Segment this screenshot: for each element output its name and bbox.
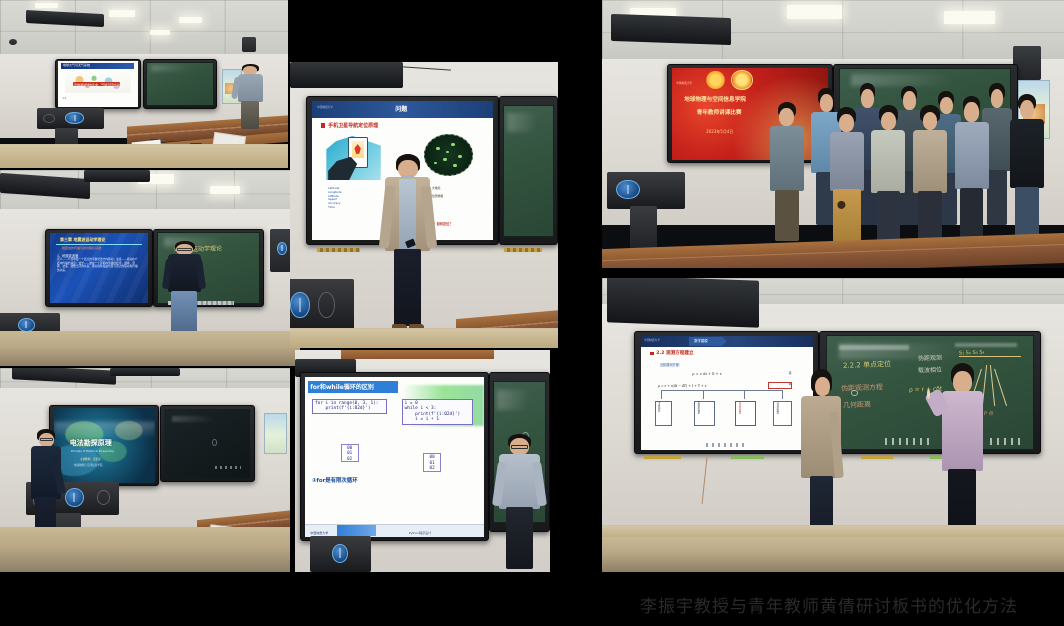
slide-title: 电法勘探原理: [70, 438, 112, 448]
podium: [37, 108, 103, 130]
slide-python-loops: for和while循环的区别 for i in range(0, 3, 1): …: [305, 377, 484, 537]
person-presenter: [230, 64, 270, 131]
secondary-screen-frame: [160, 405, 256, 483]
university-emblem-icon: [616, 180, 640, 200]
slide-header: 问题: [395, 104, 407, 113]
pen-tray-icon: [317, 248, 360, 252]
slide-body: 定义——介质中每一个质点的平衡位置方向移动；速度——振动在介质中传播的速度；波长…: [57, 258, 140, 273]
slide-title: for和while循环的区别: [310, 382, 374, 391]
panel-bottom-center[interactable]: for和while循环的区别 for i in range(0, 3, 1): …: [295, 350, 550, 572]
wall-speaker: [242, 37, 256, 52]
podium: [290, 279, 354, 330]
slide-title-en: Principle of Electrical Prospecting: [71, 450, 114, 453]
panel-bottom-left[interactable]: 电法勘探原理 Principle of Electrical Prospecti…: [0, 368, 290, 572]
podium: [310, 536, 371, 572]
slide-atmosphere: 地球大气与天气系统 影响着地球的生命、气候与环境演化 1.1: [58, 61, 137, 107]
university-emblem-icon: [290, 292, 310, 319]
board-toolbar-icons-right[interactable]: [990, 438, 1023, 445]
person-presenter: [494, 434, 545, 572]
slide-title: 第三章 地震波运动学理论: [60, 237, 105, 243]
slide-label-1: 真: [789, 371, 792, 375]
slide-title: 地球大气与天气系统: [63, 63, 90, 67]
slide-bullet: 手机卫星导航定位原理: [328, 122, 378, 129]
person-presenter: [381, 154, 435, 337]
slide-tab: 数学建模: [694, 338, 708, 343]
person-group-member: [953, 96, 990, 243]
slide-subtitle: 地震波的传播与射线理论基础: [62, 246, 101, 250]
display-screen-frame: for和while循环的区别 for i in range(0, 3, 1): …: [300, 372, 489, 541]
slide-presenter: 主讲教师：张某某: [80, 457, 101, 461]
display-screen-frame: 第三章 地震波运动学理论 地震波的传播与射线理论基础 1、地震波波速 定义——介…: [45, 229, 153, 307]
banner-line2: 青年教师讲课比赛: [697, 108, 742, 116]
person-group-member: [828, 107, 865, 246]
slide-conclusion: ①for是有限次循环: [312, 476, 358, 484]
university-emblem-icon: [65, 488, 84, 507]
glasses-icon: [511, 445, 528, 449]
greenboard-frame: [499, 96, 558, 245]
output-block-while: 00 01 02: [423, 453, 441, 471]
panel-mid-left[interactable]: 第三章 地震波运动学理论 地震波的传播与射线理论基础 1、地震波波速 定义——介…: [0, 170, 300, 366]
person-group-member: [912, 105, 949, 247]
flow-node-label: 卫星钟差: [656, 402, 660, 412]
wall-poster: [264, 413, 287, 454]
board-toolbar-icons[interactable]: [885, 438, 930, 445]
panel-top-right[interactable]: 地球物理与空间信息学院 青年教师讲课比赛 2023年5月4日 中国地质大学: [602, 0, 1064, 268]
glasses-icon: [177, 248, 191, 251]
panel-top-left[interactable]: 地球大气与天气系统 影响着地球的生命、气候与环境演化 1.1: [0, 0, 288, 168]
flow-node-label: 电离层延迟: [737, 402, 741, 414]
panel-bottom-right[interactable]: 数学建模 中国地质大学 2.2 观测方程建立 当前观测方程： ρ = c·Δt …: [602, 278, 1064, 572]
code-block-while: i = 0 while i < 3: print(f'{i:02d}') i =…: [402, 399, 474, 425]
photo-collage-stage: 地球大气与天气系统 影响着地球的生命、气候与环境演化 1.1: [0, 0, 1064, 626]
slide-seismic: 第三章 地震波运动学理论 地震波的传播与射线理论基础 1、地震波波速 定义——介…: [50, 233, 148, 303]
slide-field-list: Latitude Longitude Altitude Speed Accura…: [328, 187, 341, 209]
pen-tray-icon: [644, 456, 681, 460]
panel-mid-center[interactable]: 问题 中国地质大学 手机卫星导航定位原理: [290, 62, 558, 348]
glasses-icon: [40, 438, 53, 441]
slide-footer-right: Python程序设计: [409, 531, 431, 535]
slide-title: 2.2 观测方程建立: [656, 350, 693, 356]
banner-line1: 地球物理与空间信息学院: [684, 95, 746, 103]
person-group-member: [1009, 94, 1046, 244]
slide-affiliation: 地球物理与空间信息学院: [74, 463, 103, 467]
university-emblem-icon: [65, 112, 84, 123]
university-emblem-icon: [18, 318, 35, 332]
podium: [607, 172, 686, 210]
display-screen-frame: 地球物理与空间信息学院 青年教师讲课比赛 2023年5月4日 中国地质大学: [667, 64, 833, 163]
person-group-member: [870, 105, 907, 247]
university-emblem-icon: [332, 544, 348, 563]
slide-subtitle: 当前观测方程：: [660, 362, 682, 367]
collage-caption: 李振宇教授与青年教师黄倩研讨板书的优化方法: [640, 592, 1018, 617]
flow-node-label: 接收机钟差: [696, 402, 700, 414]
slide-footer-left: 中国地质大学: [310, 531, 328, 535]
slide-observation-equation: 数学建模 中国地质大学 2.2 观测方程建立 当前观测方程： ρ = c·Δt …: [641, 336, 813, 450]
power-indicator-icon: [851, 390, 857, 396]
display-screen-frame: 数学建模 中国地质大学 2.2 观测方程建立 当前观测方程： ρ = c·Δt …: [634, 331, 819, 454]
display-screen-frame: 地球大气与天气系统 影响着地球的生命、气候与环境演化 1.1: [55, 59, 141, 109]
slide-header-bar: 问题 中国地质大学: [312, 101, 493, 118]
code-block-for: for i in range(0, 3, 1): print(f'{i:02d}…: [312, 399, 387, 414]
slide-banner: 影响着地球的生命、气候与环境演化: [74, 83, 122, 87]
person-group-member: [768, 102, 805, 244]
slide-electrical-prospecting: 电法勘探原理 Principle of Electrical Prospecti…: [54, 408, 156, 483]
output-block-for: 00 01 02: [341, 444, 359, 462]
greenboard-frame: [143, 59, 218, 109]
banner-date: 2023年5月4日: [706, 129, 733, 135]
flow-node-label: 对流层延迟: [775, 402, 779, 414]
